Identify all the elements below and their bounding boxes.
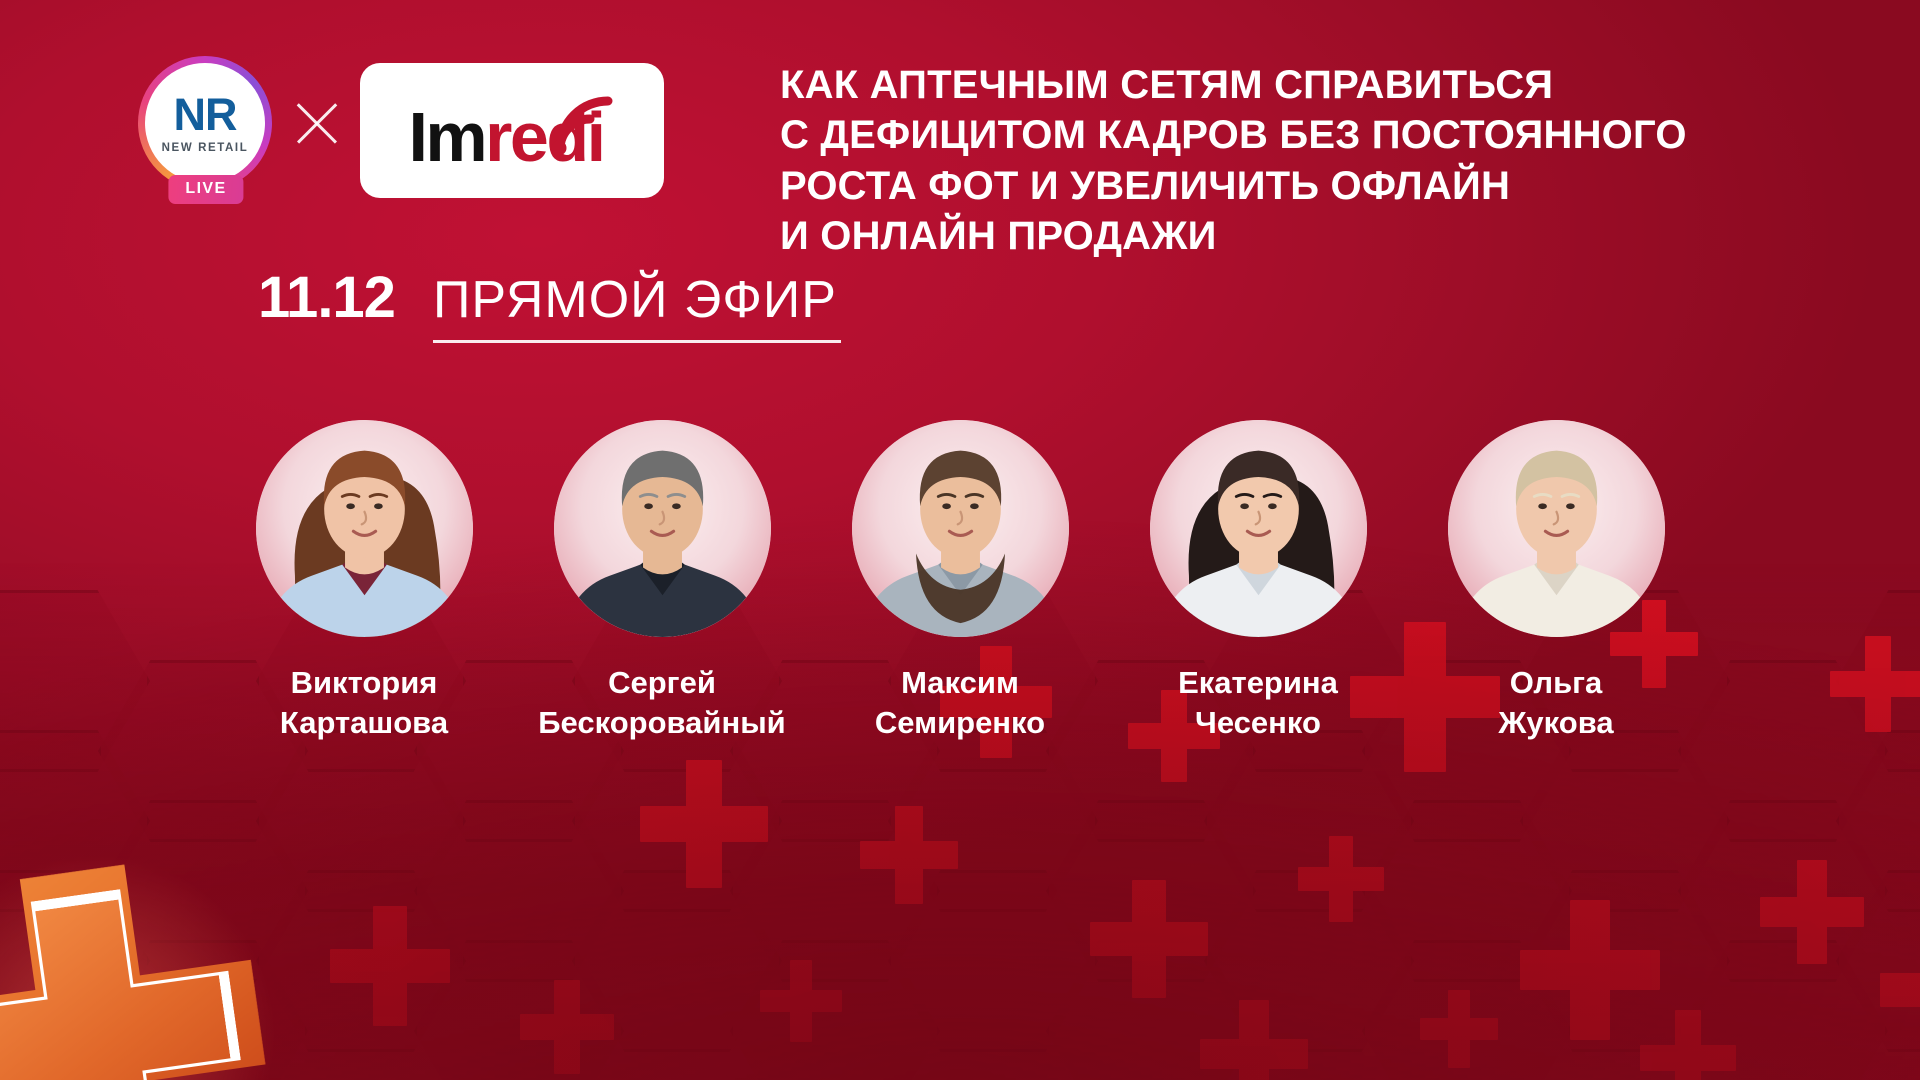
speaker-card[interactable]: Максим Семиренко	[849, 420, 1071, 742]
headline-line-4: И ОНЛАЙН ПРОДАЖИ	[780, 211, 1920, 261]
speaker-last-name: Карташова	[280, 703, 448, 743]
speaker-card[interactable]: Сергей Бескоровайный	[551, 420, 773, 742]
avatar-portrait	[852, 420, 1069, 637]
speaker-card[interactable]: Ольга Жукова	[1445, 420, 1667, 742]
speaker-first-name: Екатерина	[1178, 663, 1338, 703]
headline-line-1: КАК АПТЕЧНЫМ СЕТЯМ СПРАВИТЬСЯ	[780, 60, 1920, 110]
avatar	[256, 420, 473, 637]
speaker-last-name: Чесенко	[1178, 703, 1338, 743]
speaker-name: Сергей Бескоровайный	[538, 663, 785, 742]
imredi-logo[interactable]: Imredi	[360, 63, 664, 198]
speaker-first-name: Ольга	[1498, 663, 1613, 703]
speaker-name: Виктория Карташова	[280, 663, 448, 742]
speaker-name: Ольга Жукова	[1498, 663, 1613, 742]
avatar-portrait	[554, 420, 771, 637]
broadcast-underline	[433, 340, 841, 343]
speaker-name: Максим Семиренко	[875, 663, 1045, 742]
logo-gradient-ring: NR NEW RETAIL	[138, 56, 272, 190]
live-badge: LIVE	[168, 175, 243, 204]
nr-monogram: NR	[174, 92, 237, 137]
headline-line-2: С ДЕФИЦИТОМ КАДРОВ БЕЗ ПОСТОЯННОГО	[780, 110, 1920, 160]
avatar	[852, 420, 1069, 637]
speaker-card[interactable]: Виктория Карташова	[253, 420, 475, 742]
speaker-first-name: Максим	[875, 663, 1045, 703]
speaker-first-name: Сергей	[538, 663, 785, 703]
imredi-im: Im	[408, 98, 485, 176]
avatar	[1448, 420, 1665, 637]
broadcast-label-text: ПРЯМОЙ ЭФИР	[433, 270, 837, 330]
speakers-list: Виктория Карташова	[0, 420, 1920, 742]
speaker-last-name: Жукова	[1498, 703, 1613, 743]
broadcast-date: 11.12	[258, 264, 395, 331]
page-title: КАК АПТЕЧНЫМ СЕТЯМ СПРАВИТЬСЯ С ДЕФИЦИТО…	[780, 60, 1920, 262]
avatar	[554, 420, 771, 637]
logo-disc: NR NEW RETAIL	[145, 63, 265, 183]
speaker-first-name: Виктория	[280, 663, 448, 703]
speaker-last-name: Бескоровайный	[538, 703, 785, 743]
avatar-portrait	[1150, 420, 1367, 637]
wifi-signal-icon	[546, 87, 620, 161]
broadcast-info: 11.12 ПРЯМОЙ ЭФИР	[258, 264, 837, 331]
speaker-last-name: Семиренко	[875, 703, 1045, 743]
speaker-name: Екатерина Чесенко	[1178, 663, 1338, 742]
headline-line-3: РОСТА ФОТ И УВЕЛИЧИТЬ ОФЛАЙН	[780, 161, 1920, 211]
avatar-portrait	[256, 420, 473, 637]
new-retail-subtitle: NEW RETAIL	[162, 142, 249, 154]
cross-separator-icon	[274, 56, 360, 206]
avatar-portrait	[1448, 420, 1665, 637]
new-retail-logo[interactable]: NR NEW RETAIL LIVE	[138, 56, 274, 206]
broadcast-label: ПРЯМОЙ ЭФИР	[433, 270, 837, 330]
speaker-card[interactable]: Екатерина Чесенко	[1147, 420, 1369, 742]
neon-cross-icon	[0, 849, 281, 1080]
avatar	[1150, 420, 1367, 637]
header: NR NEW RETAIL LIVE Imredi	[120, 56, 1840, 206]
